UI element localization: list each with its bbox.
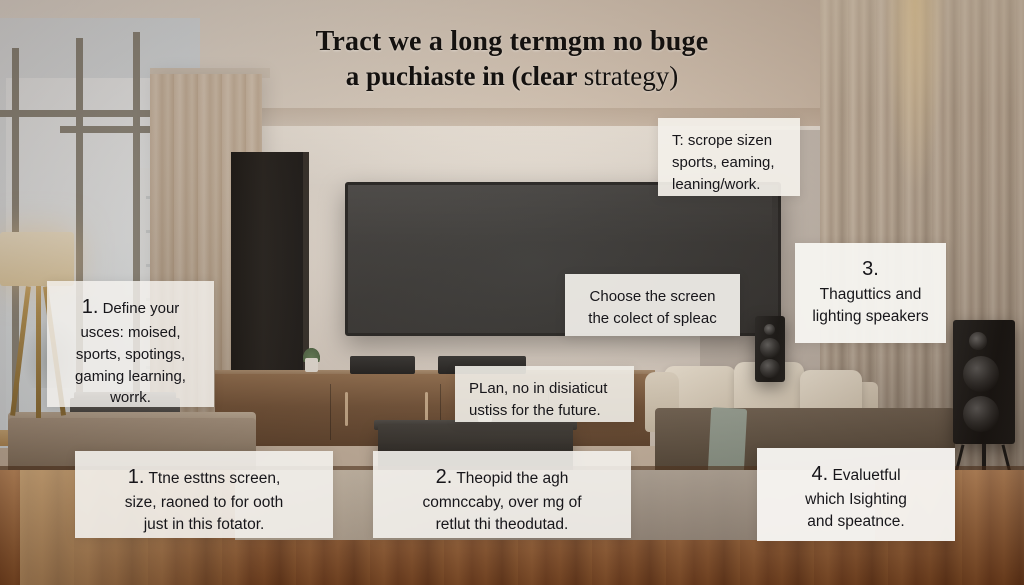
note-seating: 2. Theopid the agh comnccaby, over mg of… bbox=[373, 451, 631, 538]
window-mullion-horizontal bbox=[0, 110, 150, 117]
note-usecase-line-2: sports, eaming, bbox=[672, 152, 786, 174]
note-plan-future: PLan, no in disiaticut ustiss for the fu… bbox=[455, 366, 634, 422]
note-define-line-3: sports, spotings, bbox=[61, 344, 200, 366]
note-usecase-line-3: leaning/work. bbox=[672, 174, 786, 196]
note-screen-size: 1. Ttne esttns screen, size, raoned to f… bbox=[75, 451, 333, 538]
plant-pot bbox=[305, 358, 318, 372]
note-acoustics-number: 3. bbox=[809, 255, 932, 284]
note-choose-line-1: Choose the screen bbox=[579, 286, 726, 308]
dark-wall-panel bbox=[231, 152, 303, 374]
soundbar-left bbox=[350, 356, 415, 374]
title-line-1: Tract we a long termgm no buge bbox=[0, 24, 1024, 59]
note-evaluate-line-3: and speatnce. bbox=[771, 511, 941, 533]
note-acoustics-line-1: Thaguttics and bbox=[809, 284, 932, 306]
living-room-infographic: Tract we a long termgm no buge a puchias… bbox=[0, 0, 1024, 585]
note-screen-number: 1. bbox=[128, 466, 145, 488]
note-acoustics: 3. Thaguttics and lighting speakers bbox=[795, 243, 946, 343]
window-mullion-horizontal bbox=[60, 126, 160, 133]
note-evaluate: 4. Evaluetful which Isighting and speatn… bbox=[757, 448, 955, 541]
note-screen-line-1: 1. Ttne esttns screen, bbox=[89, 463, 319, 492]
note-acoustics-line-2: lighting speakers bbox=[809, 306, 932, 328]
page-title: Tract we a long termgm no buge a puchias… bbox=[0, 24, 1024, 94]
note-evaluate-line-1: 4. Evaluetful bbox=[771, 460, 941, 489]
note-seating-text-1: Theopid the agh bbox=[452, 470, 568, 487]
note-define-line-1: 1. Define your bbox=[61, 293, 200, 322]
dark-wall-panel-edge bbox=[303, 152, 309, 374]
title-line-2: a puchiaste in (clear strategy) bbox=[0, 59, 1024, 94]
note-plan-line-1: PLan, no in disiaticut bbox=[469, 378, 620, 400]
note-evaluate-line-2: which Isighting bbox=[771, 489, 941, 511]
note-seating-line-3: retlut thi theodutad. bbox=[387, 514, 617, 536]
note-evaluate-text-1: Evaluetful bbox=[828, 467, 900, 484]
note-define-line-4: gaming learning, bbox=[61, 366, 200, 388]
note-screen-text-1: Ttne esttns screen, bbox=[144, 470, 280, 487]
note-seating-number: 2. bbox=[436, 466, 453, 488]
note-usecase-line-1: T: scrope sizen bbox=[672, 130, 786, 152]
note-choose-line-2: the colect of spleac bbox=[579, 308, 726, 330]
note-define-number: 1. bbox=[82, 296, 99, 318]
note-define-line-2: usces: moised, bbox=[61, 322, 200, 344]
console-door-seam bbox=[330, 384, 331, 440]
note-plan-line-2: ustiss for the future. bbox=[469, 400, 620, 422]
floor-lamp-shade bbox=[0, 232, 74, 286]
note-seating-line-1: 2. Theopid the agh bbox=[387, 463, 617, 492]
title-line-2-soft: strategy) bbox=[584, 61, 678, 91]
note-choose-screen: Choose the screen the colect of spleac bbox=[565, 274, 740, 336]
floorstanding-speaker bbox=[953, 320, 1015, 444]
note-screen-line-2: size, raoned to for ooth bbox=[89, 492, 319, 514]
note-define-line-5: worrk. bbox=[61, 387, 200, 409]
note-define-your-uses: 1. Define your usces: moised, sports, sp… bbox=[47, 281, 214, 407]
console-handle bbox=[345, 392, 348, 426]
note-usecase: T: scrope sizen sports, eaming, leaning/… bbox=[658, 118, 800, 196]
note-seating-line-2: comnccaby, over mg of bbox=[387, 492, 617, 514]
note-screen-line-3: just in this fotator. bbox=[89, 514, 319, 536]
note-evaluate-number: 4. bbox=[811, 463, 828, 485]
lamp-leg bbox=[36, 286, 41, 418]
note-define-text-1: Define your bbox=[98, 300, 179, 317]
title-line-2-bold: a puchiaste in (clear bbox=[346, 61, 584, 91]
bookshelf-speaker bbox=[755, 316, 785, 382]
